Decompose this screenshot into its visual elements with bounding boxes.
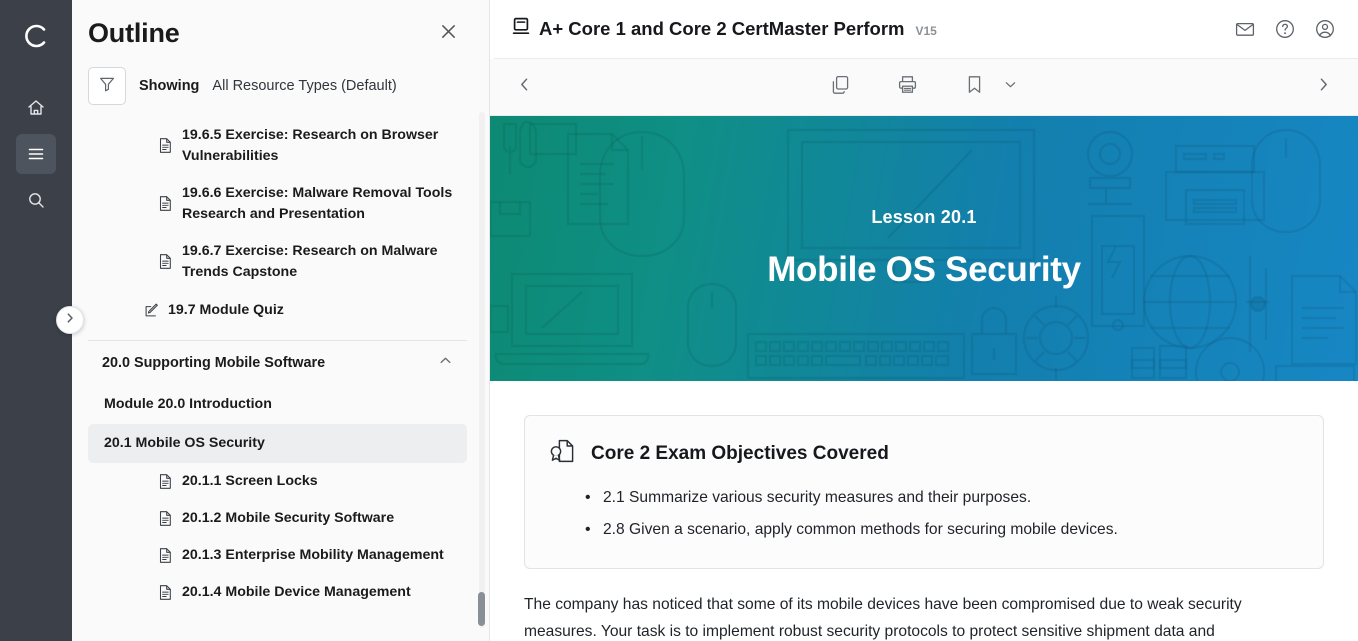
outline-item-20-1[interactable]: 20.1 Mobile OS Security [88, 424, 467, 463]
reader-toolbar [490, 59, 1358, 116]
expand-panel-button[interactable] [56, 306, 84, 334]
mail-icon[interactable] [1234, 18, 1256, 40]
account-icon[interactable] [1314, 18, 1336, 40]
exam-objectives-title: Core 2 Exam Objectives Covered [591, 443, 889, 465]
course-title: A+ Core 1 and Core 2 CertMaster Perform [539, 18, 905, 40]
chevron-right-icon [64, 311, 76, 329]
lesson-title: Mobile OS Security [767, 250, 1081, 290]
outline-scrollbar-thumb[interactable] [478, 592, 485, 626]
help-icon[interactable] [1274, 18, 1296, 40]
outline-module-header-20-0[interactable]: 20.0 Supporting Mobile Software [88, 340, 467, 385]
certificate-document-icon [547, 436, 578, 472]
document-icon [158, 584, 173, 605]
quiz-icon [144, 302, 160, 323]
page-title: Outline [88, 18, 180, 49]
outline-scrollbar-track[interactable] [479, 112, 485, 628]
bookmark-icon [964, 74, 985, 100]
copy-icon [830, 74, 851, 100]
exam-objectives-box: Core 2 Exam Objectives Covered 2.1 Summa… [524, 415, 1324, 569]
book-icon [512, 17, 530, 41]
toolbar-actions [490, 74, 1358, 100]
outline-item-20-1-4[interactable]: 20.1.4 Mobile Device Management [88, 574, 467, 611]
c-logo-icon[interactable] [16, 16, 56, 56]
chevron-up-icon [438, 353, 453, 373]
document-icon [158, 473, 173, 494]
header-actions [1234, 18, 1336, 40]
exam-objective-item: 2.8 Given a scenario, apply common metho… [603, 514, 1299, 546]
outline-item-19-6-7[interactable]: 19.6.7 Exercise: Research on Malware Tre… [88, 233, 467, 291]
outline-item-label: 19.6.5 Exercise: Research on Browser Vul… [158, 125, 459, 167]
outline-item-19-7[interactable]: 19.7 Module Quiz [88, 291, 467, 332]
lesson-banner: Lesson 20.1 Mobile OS Security [490, 116, 1358, 381]
print-icon [897, 74, 918, 100]
outline-item-20-1-1[interactable]: 20.1.1 Screen Locks [88, 463, 467, 500]
filter-button[interactable] [88, 67, 126, 105]
copy-button[interactable] [830, 74, 851, 100]
bookmark-button[interactable] [964, 74, 985, 100]
print-button[interactable] [897, 74, 918, 100]
outline-item-label: 20.1.2 Mobile Security Software [158, 508, 394, 529]
close-icon [439, 22, 458, 46]
outline-item-label: 20.1 Mobile OS Security [104, 433, 265, 454]
rail-item-outline[interactable] [16, 134, 56, 174]
outline-item-label: 19.6.7 Exercise: Research on Malware Tre… [158, 241, 459, 283]
exam-objective-item: 2.1 Summarize various security measures … [603, 482, 1299, 514]
showing-label: Showing [139, 78, 199, 94]
app-root: Outline Showing All Resource Types (Defa… [0, 0, 1358, 641]
chevron-right-icon [1315, 76, 1332, 98]
chevron-down-icon [1003, 77, 1018, 97]
rail-item-search[interactable] [16, 180, 56, 220]
lesson-paragraph: The company has noticed that some of its… [524, 591, 1314, 641]
filter-row: Showing All Resource Types (Default) [72, 53, 489, 117]
search-icon [26, 190, 46, 210]
document-icon [158, 138, 173, 159]
document-icon [158, 254, 173, 275]
lesson-content: Core 2 Exam Objectives Covered 2.1 Summa… [490, 381, 1358, 641]
outline-item-19-6-5[interactable]: 19.6.5 Exercise: Research on Browser Vul… [88, 117, 467, 175]
rail-item-home[interactable] [16, 88, 56, 128]
outline-item-19-6-6[interactable]: 19.6.6 Exercise: Malware Removal Tools R… [88, 175, 467, 233]
left-icon-rail [0, 0, 72, 641]
outline-item-label: 20.1.1 Screen Locks [158, 471, 318, 492]
outline-panel: Outline Showing All Resource Types (Defa… [72, 0, 490, 641]
course-titlebar: A+ Core 1 and Core 2 CertMaster Perform … [490, 0, 1358, 59]
document-icon [158, 547, 173, 568]
outline-item-label: 19.6.6 Exercise: Malware Removal Tools R… [158, 183, 459, 225]
document-icon [158, 196, 173, 217]
exam-objectives-header: Core 2 Exam Objectives Covered [547, 436, 1299, 472]
outline-list: 19.6.5 Exercise: Research on Browser Vul… [72, 117, 489, 641]
course-title-group: A+ Core 1 and Core 2 CertMaster Perform … [512, 17, 1234, 41]
rail-nav [16, 88, 56, 220]
filter-icon [98, 75, 116, 98]
main-pane: A+ Core 1 and Core 2 CertMaster Perform … [490, 0, 1358, 641]
chevron-left-icon [516, 76, 533, 98]
tech-pattern-background [490, 116, 1358, 381]
outline-item-label: 19.7 Module Quiz [168, 300, 284, 321]
outline-item-label: Module 20.0 Introduction [104, 394, 272, 415]
outline-item-module-20-0-intro[interactable]: Module 20.0 Introduction [88, 385, 467, 424]
showing-value[interactable]: All Resource Types (Default) [212, 78, 396, 94]
home-icon [26, 98, 46, 118]
outline-item-20-1-2[interactable]: 20.1.2 Mobile Security Software [88, 500, 467, 537]
bookmark-menu-button[interactable] [1003, 77, 1018, 97]
document-icon [158, 510, 173, 531]
outline-item-label: 20.1.4 Mobile Device Management [158, 582, 411, 603]
outline-header: Outline [72, 0, 489, 53]
outline-item-label: 20.1.3 Enterprise Mobility Management [158, 545, 444, 566]
close-outline-button[interactable] [433, 19, 463, 49]
outline-module-label: 20.0 Supporting Mobile Software [102, 355, 325, 371]
menu-icon [26, 144, 46, 164]
next-page-button[interactable] [1315, 76, 1332, 98]
outline-item-20-1-3[interactable]: 20.1.3 Enterprise Mobility Management [88, 537, 467, 574]
version-badge: V15 [916, 20, 937, 38]
exam-objectives-list: 2.1 Summarize various security measures … [547, 482, 1299, 546]
previous-page-button[interactable] [516, 76, 533, 98]
lesson-number: Lesson 20.1 [871, 207, 976, 228]
